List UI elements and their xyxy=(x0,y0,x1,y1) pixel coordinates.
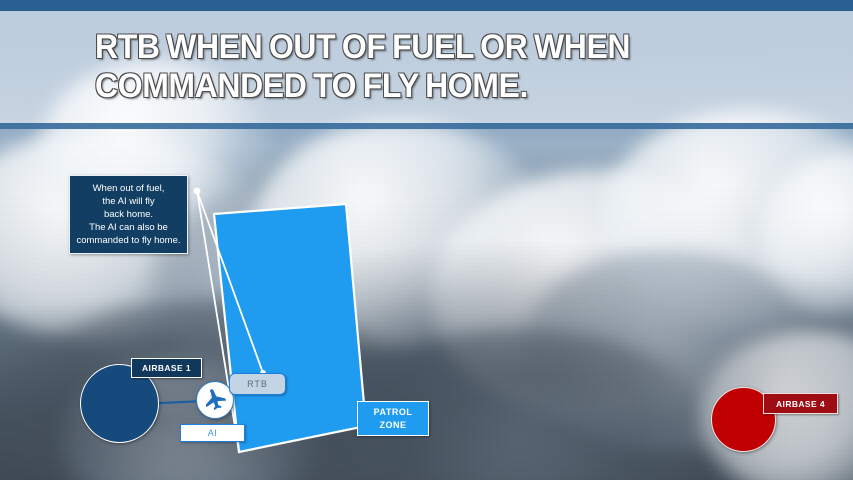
label-patrol-zone-line-1: PATROL xyxy=(374,406,413,419)
label-ai[interactable]: AI xyxy=(180,424,245,442)
callout-connector-dot xyxy=(194,188,201,195)
page-title-line-1: RTB WHEN OUT OF FUEL OR WHEN xyxy=(95,28,630,66)
callout-line-5: commanded to fly home. xyxy=(76,234,180,247)
label-patrol-zone[interactable]: PATROL ZONE xyxy=(357,401,429,436)
label-rtb[interactable]: RTB xyxy=(229,373,286,395)
callout-line-4: The AI can also be xyxy=(76,221,180,234)
title-band-bottom-rule xyxy=(0,123,853,129)
page-title: RTB WHEN OUT OF FUEL OR WHEN COMMANDED T… xyxy=(95,28,753,106)
callout-line-1: When out of fuel, xyxy=(76,182,180,195)
callout-text: When out of fuel, the AI will fly back h… xyxy=(76,182,180,247)
page-title-line-2: COMMANDED TO FLY HOME. xyxy=(95,67,753,106)
slide-canvas: RTB WHEN OUT OF FUEL OR WHEN COMMANDED T… xyxy=(0,0,853,480)
callout-line-3: back home. xyxy=(76,208,180,221)
title-band-top-rule xyxy=(0,0,853,11)
label-airbase-4[interactable]: AIRBASE 4 xyxy=(763,393,838,414)
callout-line-2: the AI will fly xyxy=(76,195,180,208)
patrol-zone-polygon xyxy=(214,204,366,452)
label-patrol-zone-line-2: ZONE xyxy=(379,419,406,432)
callout-box: When out of fuel, the AI will fly back h… xyxy=(69,175,188,254)
fighter-jet-icon xyxy=(201,386,229,414)
label-airbase-1[interactable]: AIRBASE 1 xyxy=(131,358,202,378)
